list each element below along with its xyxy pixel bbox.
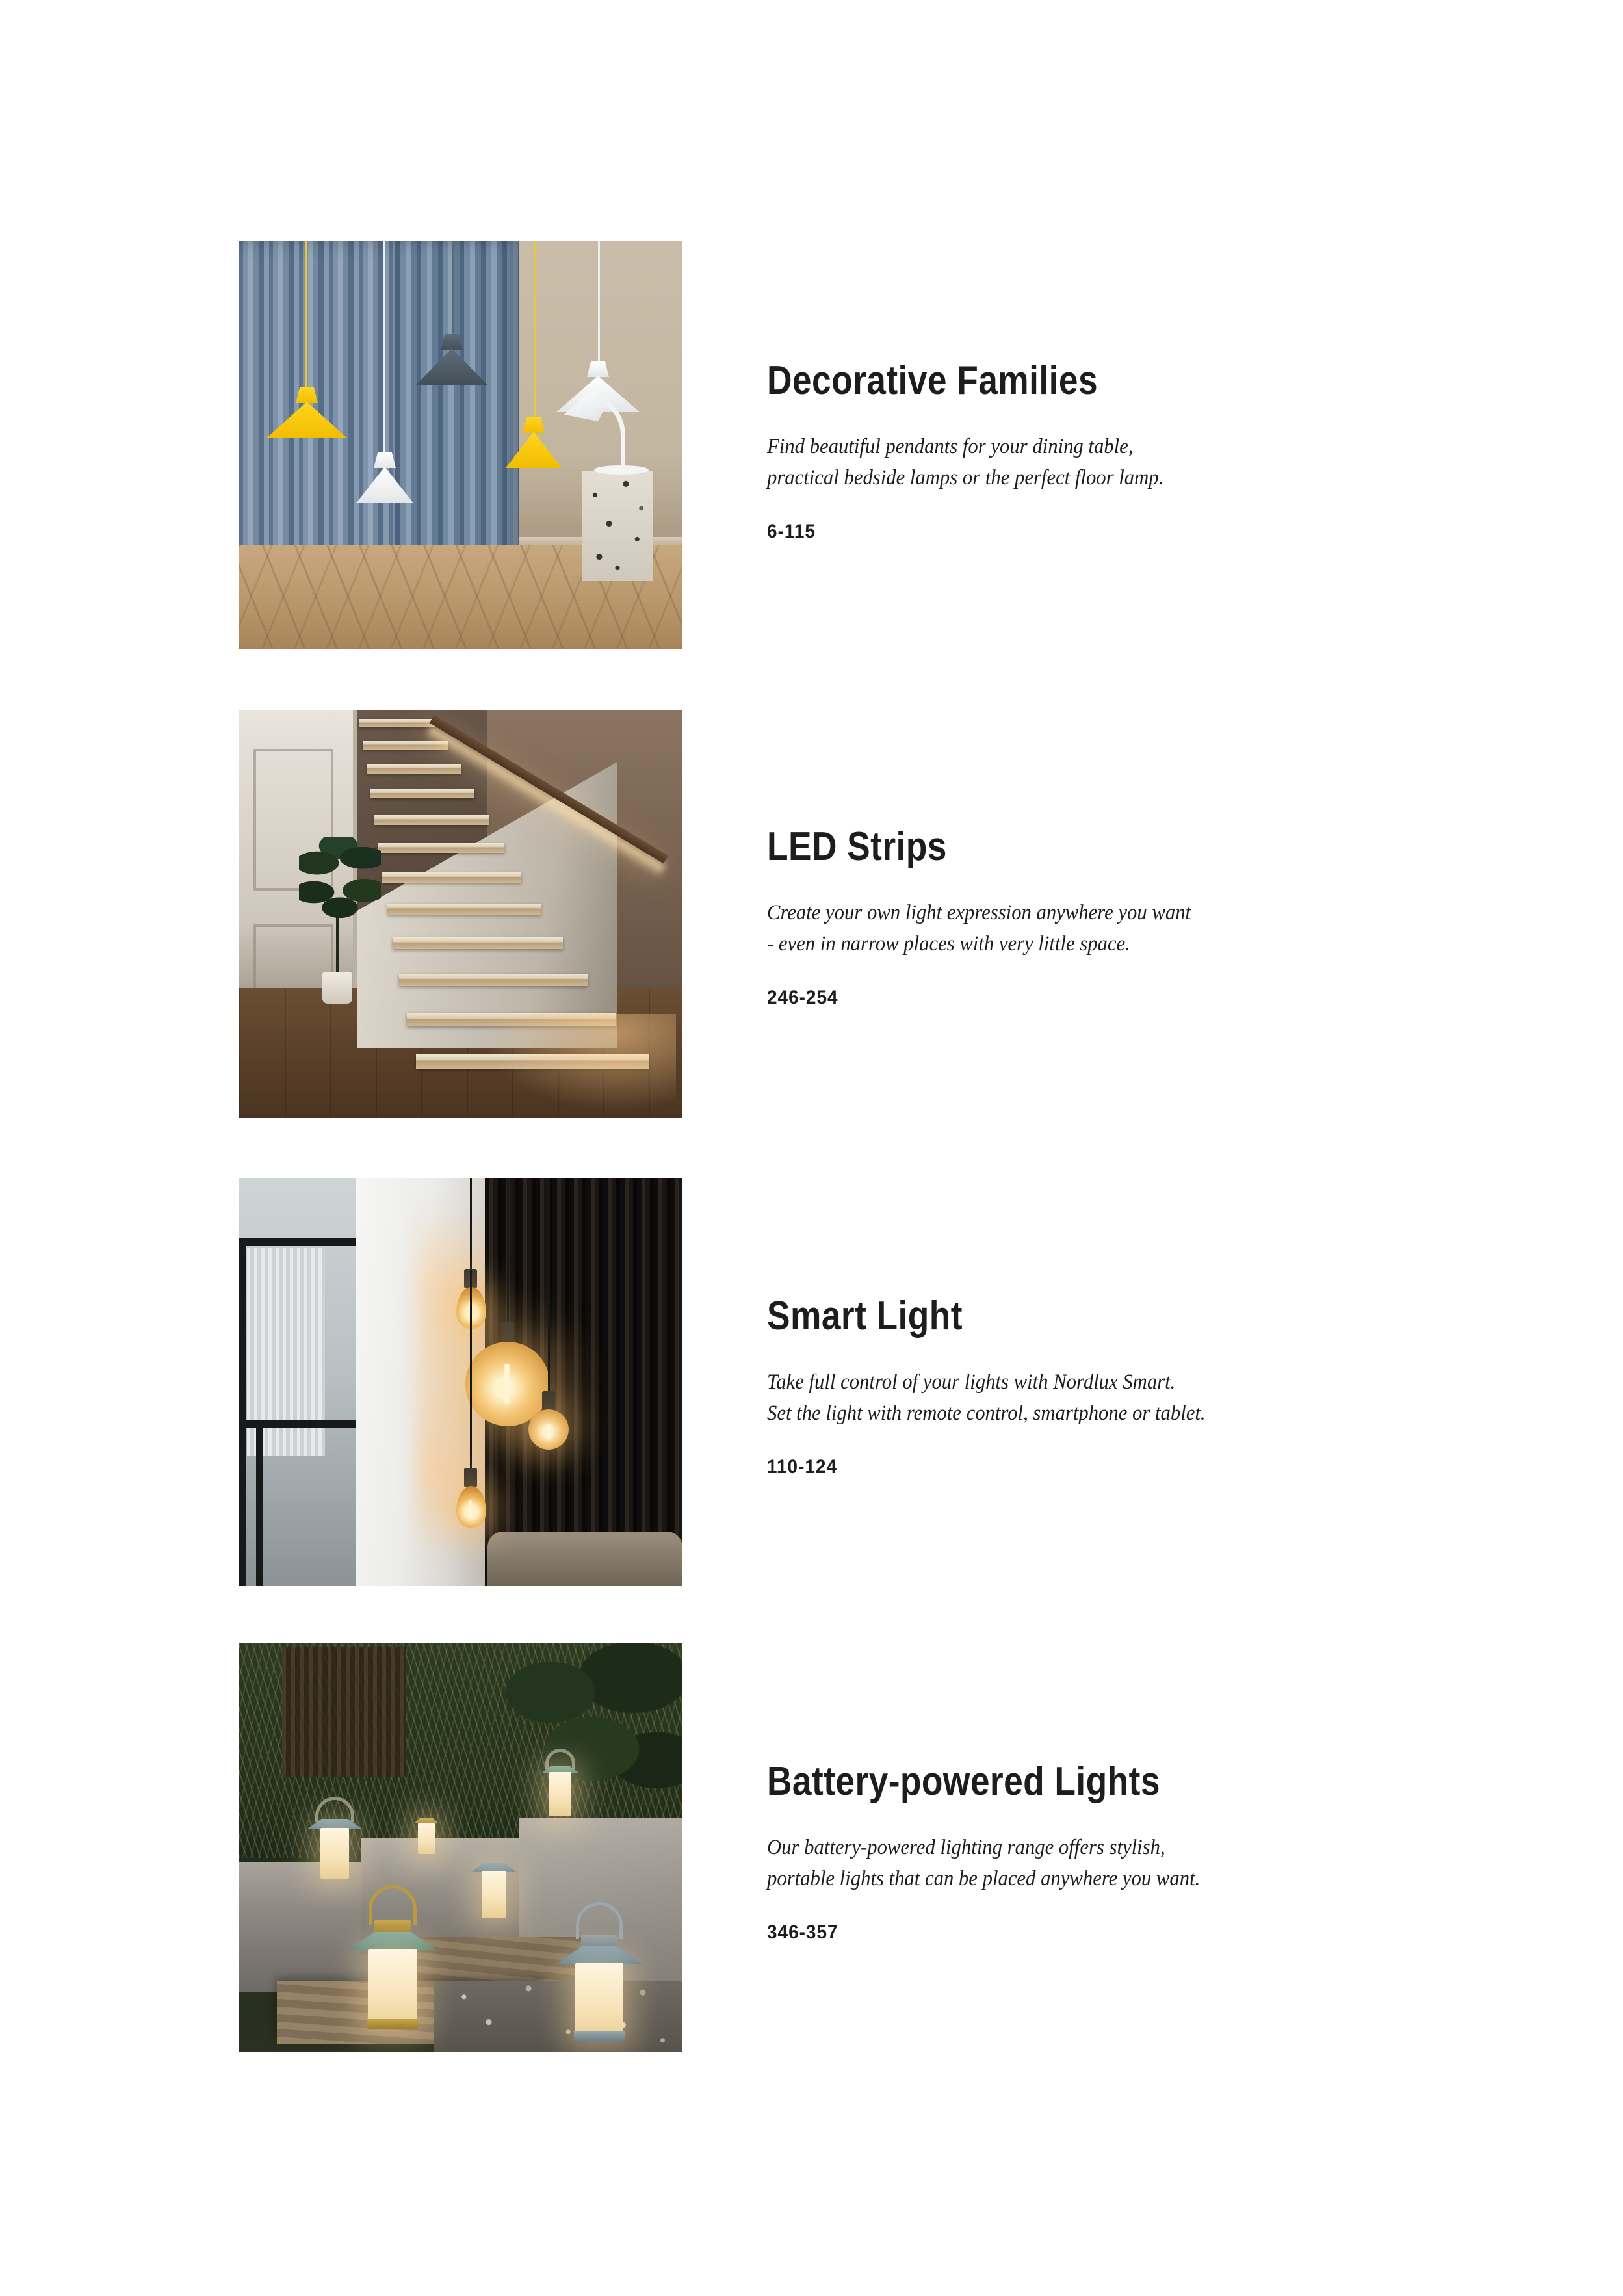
floor-light-pool: [481, 1014, 676, 1112]
section-smart-light: Smart Light Take full control of your li…: [0, 1178, 1623, 1586]
stair-step: [382, 872, 521, 883]
pendant-lamp-dark: [416, 334, 487, 381]
section-description: Take full control of your lights with No…: [767, 1366, 1462, 1429]
section-heading: Decorative Families: [767, 361, 1410, 401]
section-heading: Battery-powered Lights: [767, 1762, 1410, 1802]
section-page-range[interactable]: 346-357: [767, 1922, 1462, 1944]
catalogue-contents-page: Decorative Families Find beautiful penda…: [0, 0, 1623, 2296]
battery-lantern-teal-top: [541, 1749, 580, 1825]
stair-step: [387, 904, 541, 915]
section-copy-led-strips: LED Strips Create your own light express…: [767, 827, 1514, 1009]
section-page-range[interactable]: 6-115: [767, 521, 1462, 543]
plant-pot: [322, 972, 352, 1004]
bulb-socket: [464, 1468, 477, 1487]
stair-step: [370, 789, 474, 798]
pendant-cord-white-left: [383, 241, 385, 455]
bulb-filament: [547, 1424, 551, 1439]
stair-step: [399, 974, 588, 986]
pendant-cord-dark: [452, 241, 454, 337]
door-frame-rail: [239, 1238, 356, 1246]
section-copy-battery-powered-lights: Battery-powered Lights Our battery-power…: [767, 1762, 1514, 1944]
terrazzo-plinth: [582, 471, 653, 581]
stair-step: [367, 764, 461, 774]
battery-lantern-blue-left: [307, 1797, 363, 1889]
stair-step: [374, 815, 489, 825]
section-description: Our battery-powered lighting range offer…: [767, 1832, 1462, 1894]
battery-lantern-blue-deck: [471, 1863, 517, 1936]
battery-lantern-brass-front: [347, 1885, 438, 2039]
section-image-battery-powered-lights[interactable]: [239, 1643, 682, 2052]
section-copy-smart-light: Smart Light Take full control of your li…: [767, 1296, 1514, 1478]
bulb-socket: [501, 1322, 514, 1342]
stair-step: [393, 937, 563, 949]
section-description: Find beautiful pendants for your dining …: [767, 431, 1462, 493]
door-frame-stile: [239, 1238, 246, 1586]
section-image-led-strips[interactable]: [239, 710, 682, 1118]
stair-step: [359, 719, 437, 727]
shrub: [494, 1643, 682, 1832]
section-page-range[interactable]: 246-254: [767, 987, 1462, 1009]
sofa-cushion: [487, 1532, 682, 1586]
section-image-smart-light[interactable]: [239, 1178, 682, 1586]
battery-lantern-blue-gravel: [555, 1902, 643, 2049]
bulb-cord-top: [470, 1178, 472, 1270]
battery-lantern-brass-back: [413, 1818, 439, 1860]
wooden-fence: [282, 1647, 406, 1777]
pendant-lamp-yellow-large: [266, 387, 347, 439]
bulb-cord-large: [507, 1178, 509, 1324]
section-description: Create your own light expression anywher…: [767, 897, 1462, 959]
stair-step: [378, 843, 504, 853]
bulb-cord-small-globe: [548, 1178, 550, 1392]
door-frame-stile: [256, 1420, 263, 1586]
bulb-filament: [469, 1500, 472, 1517]
section-decorative-families: Decorative Families Find beautiful penda…: [0, 241, 1623, 649]
section-battery-powered-lights: Battery-powered Lights Our battery-power…: [0, 1643, 1623, 2051]
section-heading: LED Strips: [767, 827, 1410, 867]
bulb-filament: [504, 1364, 510, 1404]
section-image-decorative-families[interactable]: [239, 241, 682, 649]
pendant-lamp-yellow-small: [506, 417, 562, 458]
plant-stem: [336, 910, 339, 975]
section-page-range[interactable]: 110-124: [767, 1456, 1462, 1478]
bulb-cord-bottom: [470, 1270, 472, 1469]
pendant-cord-white-right: [598, 241, 600, 364]
pendant-cord-yellow-left: [305, 241, 307, 390]
pendant-lamp-white-small: [356, 452, 413, 493]
pendant-cord-yellow-right: [534, 241, 536, 420]
section-heading: Smart Light: [767, 1296, 1410, 1337]
plant-leaves: [299, 837, 381, 923]
section-copy-decorative-families: Decorative Families Find beautiful penda…: [767, 361, 1514, 543]
blue-curtain-secondary: [395, 241, 519, 577]
section-led-strips: LED Strips Create your own light express…: [0, 710, 1623, 1117]
bulb-socket: [542, 1391, 555, 1411]
